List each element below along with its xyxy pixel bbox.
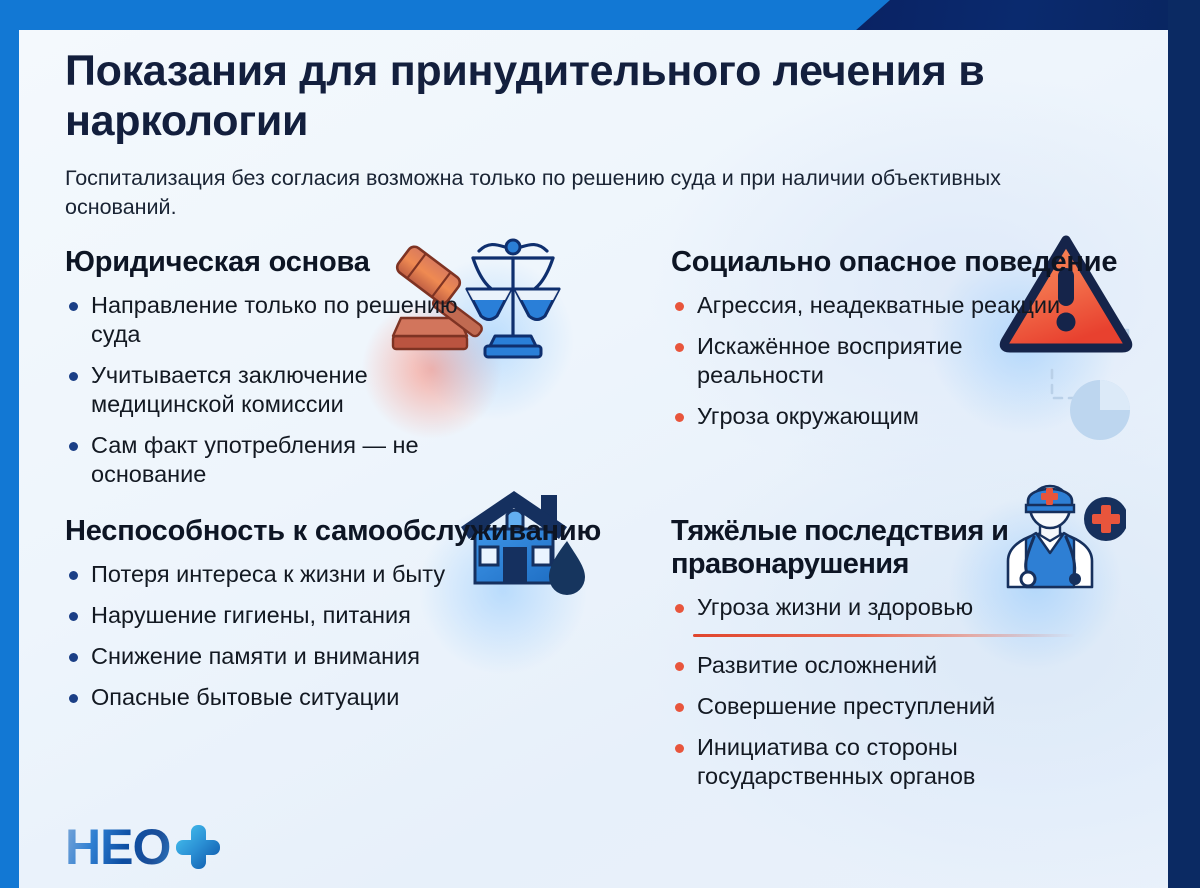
list-item: Направление только по решению суда (65, 291, 495, 349)
list-item: Нарушение гигиены, питания (65, 601, 525, 630)
list-item: Инициатива со стороны государственных ор… (671, 733, 1071, 791)
section-severe-consequences: Тяжёлые последствия и правонарушения Угр… (653, 489, 1132, 791)
list-item: Агрессия, неадекватные реакции (671, 291, 1071, 320)
socially-dangerous-behavior-list: Агрессия, неадекватные реакции Искажённо… (671, 291, 1132, 431)
page-title: Показания для принудительного лечения в … (65, 46, 1025, 147)
brand-logo-text: НЕО (65, 822, 170, 872)
section-legal-basis: Юридическая основа Направление только по… (65, 246, 643, 489)
list-item: Учитывается заключение медицинской комис… (65, 361, 495, 419)
infographic-poster: Показания для принудительного лечения в … (0, 0, 1200, 888)
list-item-highlight: Угроза жизни и здоровью (671, 593, 1071, 622)
list-item: Развитие осложнений (671, 651, 1071, 680)
list-item: Сам факт употребления — не основание (65, 431, 495, 489)
section-heading: Юридическая основа (65, 246, 633, 279)
section-heading: Социально опасное поведение (671, 246, 1132, 279)
section-heading: Тяжёлые последствия и правонарушения (671, 515, 1132, 581)
list-item: Угроза окружающим (671, 402, 1071, 431)
list-item: Потеря интереса к жизни и быту (65, 560, 525, 589)
content-card: Показания для принудительного лечения в … (19, 30, 1168, 888)
section-inability-to-self-care: Неспособность к самообслуживанию Потеря … (65, 489, 643, 791)
inability-to-self-care-list: Потеря интереса к жизни и быту Нарушение… (65, 560, 633, 712)
sections-grid: Юридическая основа Направление только по… (65, 246, 1132, 791)
section-socially-dangerous-behavior: Социально опасное поведение Агрессия, не… (653, 246, 1132, 489)
red-divider (693, 634, 1075, 637)
list-item: Снижение памяти и внимания (65, 642, 525, 671)
severe-consequences-list: Развитие осложнений Совершение преступле… (671, 651, 1132, 791)
list-item: Опасные бытовые ситуации (65, 683, 525, 712)
severe-consequences-highlight-list: Угроза жизни и здоровью (671, 593, 1132, 622)
page-subtitle: Госпитализация без согласия возможна тол… (65, 164, 1005, 223)
right-navy-border (1168, 0, 1200, 888)
brand-logo: НЕО (65, 822, 220, 872)
left-blue-border (0, 0, 19, 888)
brand-logo-plus-icon (176, 825, 220, 869)
section-heading: Неспособность к самообслуживанию (65, 515, 633, 548)
list-item: Искажённое восприятие реальности (671, 332, 1071, 390)
legal-basis-list: Направление только по решению суда Учиты… (65, 291, 633, 489)
list-item: Совершение преступлений (671, 692, 1071, 721)
